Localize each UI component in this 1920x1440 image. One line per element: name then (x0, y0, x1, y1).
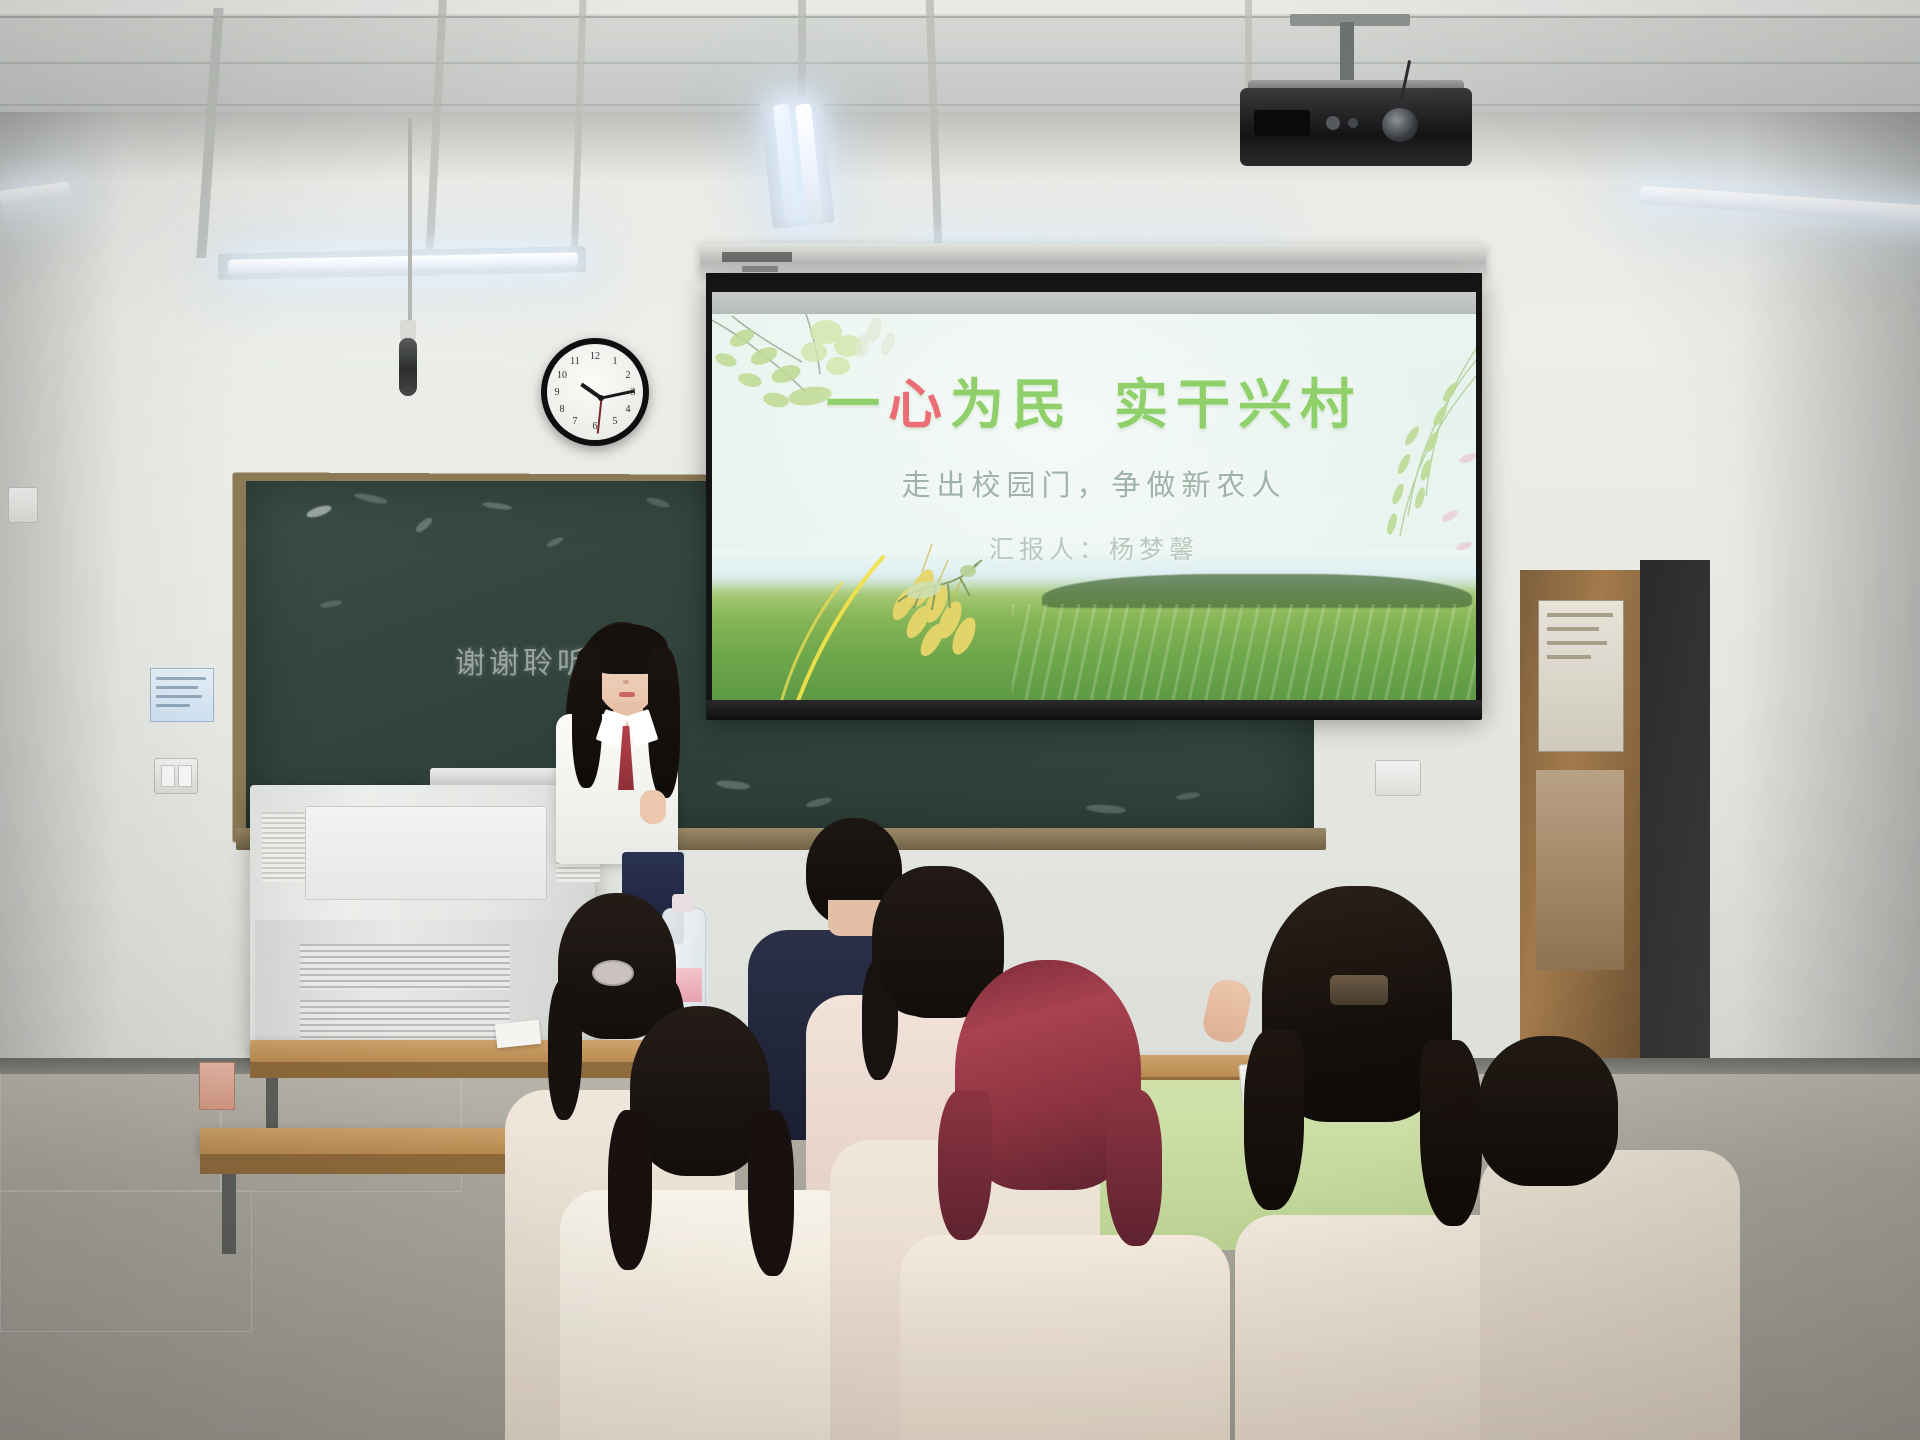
slide-title-accent: 心 (888, 373, 950, 436)
podium-logo-panel (305, 806, 547, 900)
slide-subtitle: 走出校园门，争做新农人 (712, 462, 1476, 504)
ceiling-edge (0, 0, 1920, 14)
ceiling-seam (0, 62, 1920, 64)
clock-number: 2 (621, 370, 635, 381)
projector-lens-icon (1382, 108, 1418, 142)
wall-shading (0, 112, 1920, 182)
clock-number: 12 (588, 351, 602, 362)
hair-tie (592, 960, 634, 986)
hair-clip (1330, 975, 1388, 1005)
floor-poster (199, 1062, 235, 1110)
wall-notice-card (150, 668, 214, 722)
student-desk (250, 1040, 700, 1062)
wall-outlet-plate[interactable] (1375, 760, 1421, 796)
clock-number: 4 (621, 404, 635, 415)
ceiling-seam (0, 16, 1920, 18)
screen-case-label-2 (742, 266, 778, 272)
clock-center-pin (598, 395, 604, 401)
desk-leg (222, 1174, 236, 1254)
clock-number: 5 (608, 416, 622, 427)
slide-title-seg-1: 一 (826, 373, 888, 436)
presentation-slide[interactable]: 一心为民实干兴村 走出校园门，争做新农人 汇报人：杨梦馨 (712, 314, 1476, 700)
clock-number: 7 (568, 416, 582, 427)
presenter-hand (640, 790, 666, 824)
clock-number: 10 (555, 370, 569, 381)
floor-tile (0, 1190, 252, 1332)
wall-shading-left (0, 112, 120, 1122)
slide-presenter: 汇报人：杨梦馨 (712, 530, 1476, 566)
microphone-icon[interactable] (399, 338, 417, 396)
screen-case-label (722, 252, 792, 262)
clock-face: 12 1 2 3 4 5 6 7 8 9 10 11 (547, 344, 643, 440)
clock-number: 9 (550, 387, 564, 398)
screen-bottom-weight-bar (706, 700, 1482, 720)
slide-title-seg-3: 实干兴村 (1114, 373, 1362, 436)
ceiling-seam (0, 104, 1920, 106)
ceiling-rail (798, 0, 806, 100)
slide-title-seg-2: 为民 (950, 373, 1074, 436)
slide-title: 一心为民实干兴村 (712, 360, 1476, 439)
clock-icon: 12 1 2 3 4 5 6 7 8 9 10 11 (541, 338, 649, 446)
cabinet-door[interactable] (1536, 770, 1624, 970)
microphone-hanging-pipe (408, 118, 412, 338)
cabinet-panel (1538, 600, 1624, 752)
clock-number: 11 (568, 356, 582, 367)
side-cabinet-dark (1640, 560, 1710, 1100)
clock-number: 1 (608, 356, 622, 367)
projector-icon (1240, 88, 1472, 166)
screen-roller-case (700, 243, 1486, 275)
light-switch[interactable] (154, 758, 198, 794)
presenter-hair-left (572, 648, 602, 788)
clock-number: 8 (555, 404, 569, 415)
floor-tile (0, 1070, 222, 1192)
screen-top-strip (712, 292, 1476, 314)
bottle-cap (672, 894, 694, 912)
paper-sheet[interactable] (495, 1020, 541, 1048)
classroom-scene: 12 1 2 3 4 5 6 7 8 9 10 11 (0, 0, 1920, 1440)
podium-vent (300, 944, 510, 990)
projector-mount-arm (1340, 22, 1354, 84)
wall-socket[interactable] (8, 487, 38, 523)
microphone-clip (400, 320, 416, 340)
podium-speaker-grill (262, 812, 306, 882)
wall-shading-right (1740, 112, 1920, 1122)
